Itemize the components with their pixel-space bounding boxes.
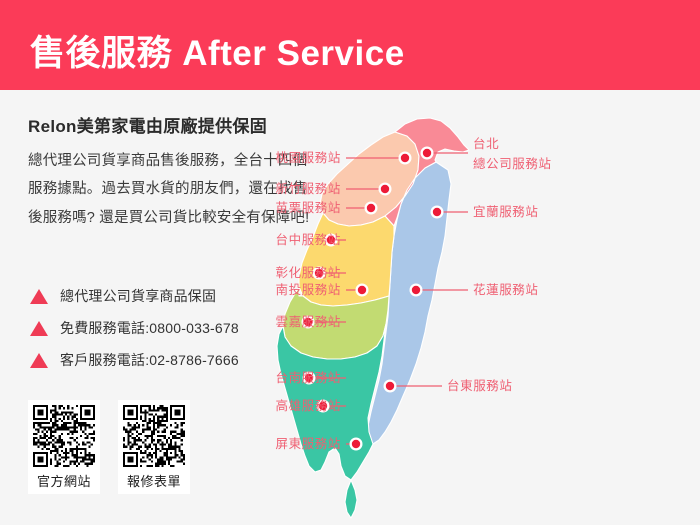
map-label-text: 台南服務站 — [275, 370, 341, 385]
list-item-label: 總代理公司貨享商品保固 — [60, 286, 216, 306]
page-title: 售後服務 After Service — [30, 25, 405, 76]
map-label-yunjia[interactable]: 雲嘉服務站 — [275, 315, 346, 329]
map-label-text: 新竹服務站 — [275, 181, 341, 196]
map-label-text: 花蓮服務站 — [473, 282, 539, 297]
map-label-kaohsiung[interactable]: 高雄服務站 — [275, 398, 346, 413]
after-service-page: 售後服務 After Service Relon美第家電由原廠提供保固 總代理公… — [0, 0, 700, 525]
map-label-text: 台北 — [473, 136, 499, 151]
map-label-text: 南投服務站 — [275, 282, 341, 297]
map-label-text: 屏東服務站 — [275, 437, 341, 451]
triangle-up-icon — [30, 321, 48, 336]
list-item-label: 客戶服務電話:02-8786-7666 — [60, 350, 239, 370]
qr-caption: 官方網站 — [37, 471, 91, 490]
map-label-text-line2: 總公司服務站 — [473, 156, 552, 171]
map-label-text: 台中服務站 — [275, 232, 341, 247]
qr-code-repair-form[interactable]: 報修表單 — [118, 400, 190, 494]
map-label-text: 彰化服務站 — [275, 265, 341, 280]
map-label-text: 桃園服務站 — [275, 150, 341, 165]
triangle-up-icon — [30, 353, 48, 368]
map-label-tainan[interactable]: 台南服務站 — [275, 370, 346, 385]
qr-code-official-website[interactable]: 官方網站 — [28, 400, 100, 494]
qr-code-icon — [33, 405, 95, 467]
qr-code-section: 官方網站 報修表單 — [28, 400, 190, 494]
triangle-up-icon — [30, 289, 48, 304]
taiwan-service-map: 桃園服務站 新竹服務站 苗栗服務站 — [255, 100, 700, 525]
qr-caption: 報修表單 — [127, 471, 181, 490]
map-label-taichung[interactable]: 台中服務站 — [275, 232, 346, 247]
page-header-banner: 售後服務 After Service — [0, 0, 700, 90]
map-label-text: 台東服務站 — [447, 378, 513, 393]
map-label-text: 高雄服務站 — [275, 398, 341, 413]
map-label-changhua[interactable]: 彰化服務站 — [275, 265, 346, 280]
list-item-label: 免費服務電話:0800-033-678 — [60, 318, 239, 338]
map-label-text: 苗栗服務站 — [275, 201, 341, 215]
qr-code-icon — [123, 405, 185, 467]
map-label-text: 宜蘭服務站 — [473, 204, 539, 219]
map-label-text: 雲嘉服務站 — [275, 315, 341, 329]
